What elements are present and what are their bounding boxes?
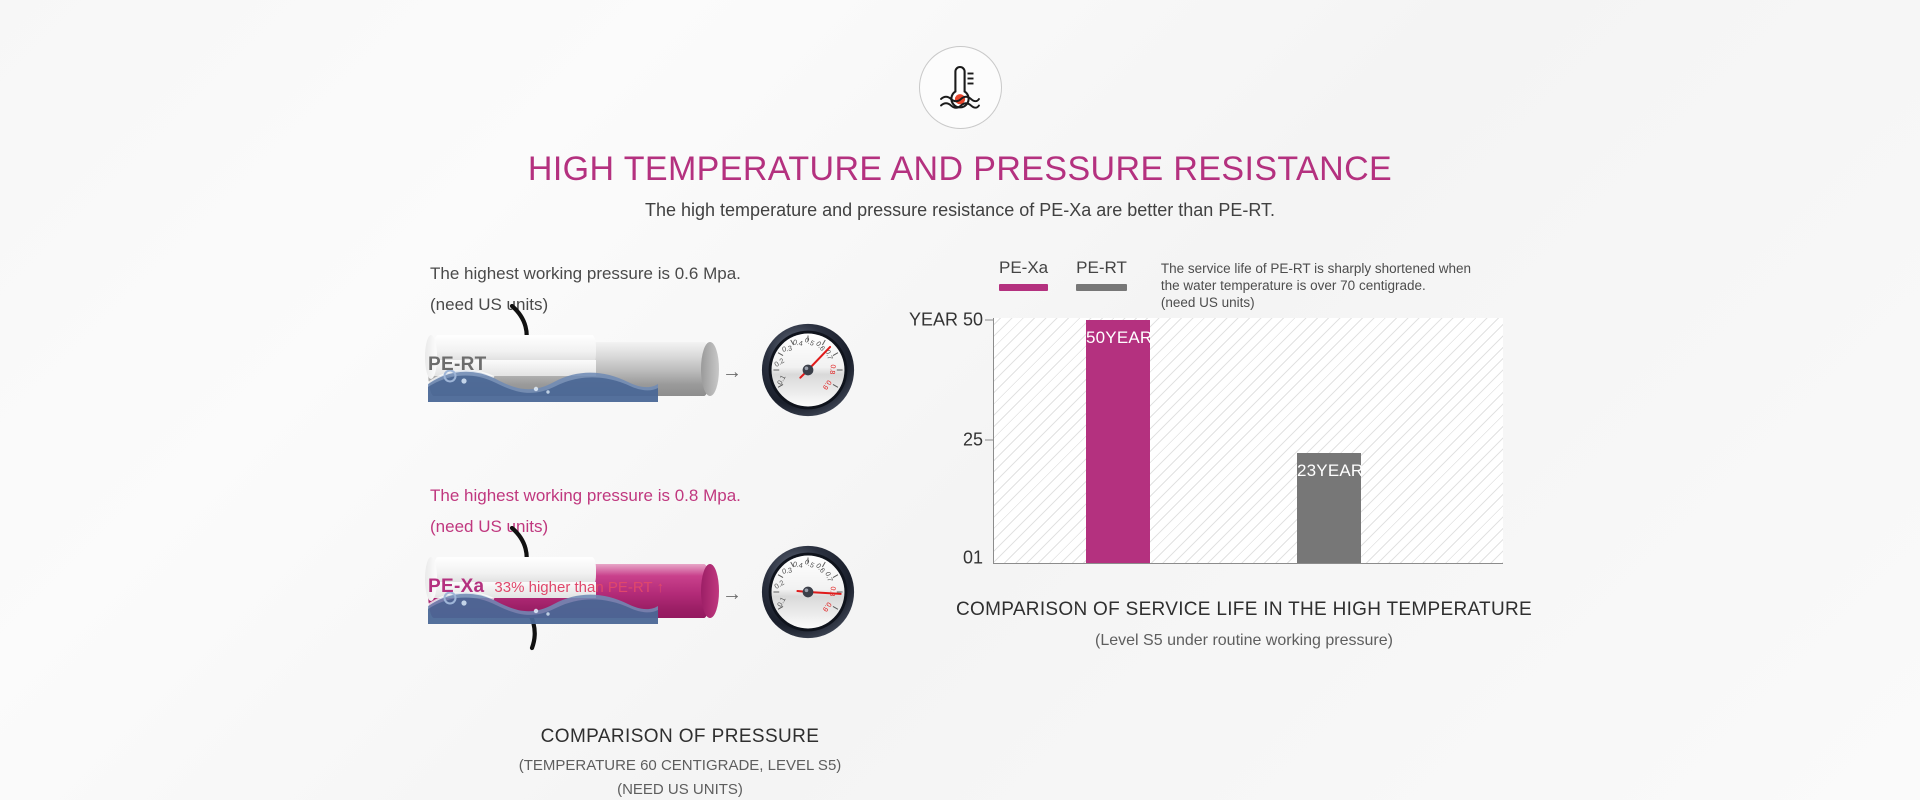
page-header: HIGH TEMPERATURE AND PRESSURE RESISTANCE…: [0, 0, 1920, 221]
y-tick-mark-50: [985, 320, 993, 321]
pexa-pipe-cap: [701, 564, 719, 618]
chart-annotation-line-1: The service life of PE-RT is sharply sho…: [1161, 260, 1471, 277]
pexa-callout-line-1: The highest working pressure is 0.8 Mpa.: [430, 480, 960, 511]
pressure-caption-sub2: (NEED US UNITS): [400, 781, 960, 798]
y-tick-label-01: 01: [963, 548, 983, 569]
page-title: HIGH TEMPERATURE AND PRESSURE RESISTANCE: [0, 151, 1920, 188]
bar-pert: 23YEAR: [1297, 453, 1361, 563]
legend-item-pexa: PE-Xa: [999, 258, 1048, 291]
pressure-comparison-panel: The highest working pressure is 0.6 Mpa.…: [400, 258, 960, 798]
pert-pipe-label: PE-RT: [428, 354, 487, 376]
legend-item-pert: PE-RT: [1076, 258, 1127, 291]
service-life-caption-sub: (Level S5 under routine working pressure…: [883, 632, 1605, 650]
pert-pipe-block: The highest working pressure is 0.6 Mpa.…: [400, 258, 960, 458]
pert-arrow-to-gauge-icon: →: [722, 362, 742, 382]
pexa-pressure-gauge: 0.1 0.2 0.3 0.4 0.5 0.6 0.7 0.8 0.9: [760, 544, 856, 640]
pert-pipe-cap: [701, 342, 719, 396]
pexa-pipe-block: The highest working pressure is 0.8 Mpa.…: [400, 480, 960, 680]
thermometer-badge: [919, 46, 1002, 129]
badge-wrap: [0, 46, 1920, 129]
y-tick-label-25: 25: [963, 430, 983, 451]
content-body: The highest working pressure is 0.6 Mpa.…: [0, 258, 1920, 758]
y-tick-mark-25: [985, 440, 993, 441]
bar-pexa: 50YEAR: [1086, 320, 1150, 563]
y-axis: YEAR 50 25 01: [905, 318, 993, 573]
svg-text:0.8: 0.8: [828, 586, 837, 597]
service-life-panel: PE-Xa PE-RT The service life of PE-RT is…: [905, 258, 1605, 650]
thermometer-water-icon: [937, 61, 983, 115]
pexa-pipe-label: PE-Xa33% higher than PE-RT ↑: [428, 576, 664, 598]
service-life-caption: COMPARISON OF SERVICE LIFE IN THE HIGH T…: [883, 599, 1605, 650]
svg-text:0.8: 0.8: [828, 364, 837, 375]
pert-pressure-gauge: 0.1 0.2 0.3 0.4 0.5 0.6 0.7 0.8 0.9: [760, 322, 856, 418]
legend-label-pert: PE-RT: [1076, 258, 1127, 278]
plot-area: 50YEAR 23YEAR: [993, 318, 1503, 564]
chart-annotation-line-3: (need US units): [1161, 294, 1471, 311]
svg-text:0.3: 0.3: [782, 344, 793, 353]
service-life-caption-title: COMPARISON OF SERVICE LIFE IN THE HIGH T…: [883, 599, 1605, 621]
legend-swatch-pert: [1076, 284, 1127, 291]
bar-label-pexa: 50YEAR: [1086, 328, 1150, 348]
pexa-improvement-note: 33% higher than PE-RT ↑: [494, 579, 664, 596]
pressure-caption: COMPARISON OF PRESSURE (TEMPERATURE 60 C…: [400, 726, 960, 798]
svg-text:0.3: 0.3: [782, 566, 793, 575]
pert-callout-line-2: (need US units): [430, 289, 960, 320]
pert-callout-line-1: The highest working pressure is 0.6 Mpa.: [430, 258, 960, 289]
pressure-caption-title: COMPARISON OF PRESSURE: [400, 726, 960, 748]
chart-legend: PE-Xa PE-RT The service life of PE-RT is…: [999, 258, 1605, 314]
pressure-caption-sub: (TEMPERATURE 60 CENTIGRADE, LEVEL S5): [400, 757, 960, 774]
bar-label-pert: 23YEAR: [1297, 461, 1361, 481]
chart-annotation-line-2: the water temperature is over 70 centigr…: [1161, 277, 1471, 294]
page-subtitle: The high temperature and pressure resist…: [0, 200, 1920, 221]
legend-swatch-pexa: [999, 284, 1048, 291]
pexa-pipe-label-text: PE-Xa: [428, 576, 484, 597]
chart-annotation: The service life of PE-RT is sharply sho…: [1161, 260, 1471, 311]
y-tick-label-50: YEAR 50: [909, 310, 983, 331]
service-life-bar-chart: YEAR 50 25 01 50YEAR 23YEAR: [905, 318, 1605, 573]
legend-label-pexa: PE-Xa: [999, 258, 1048, 278]
pexa-callout-line-2: (need US units): [430, 511, 960, 542]
pexa-arrow-to-gauge-icon: →: [722, 584, 742, 604]
